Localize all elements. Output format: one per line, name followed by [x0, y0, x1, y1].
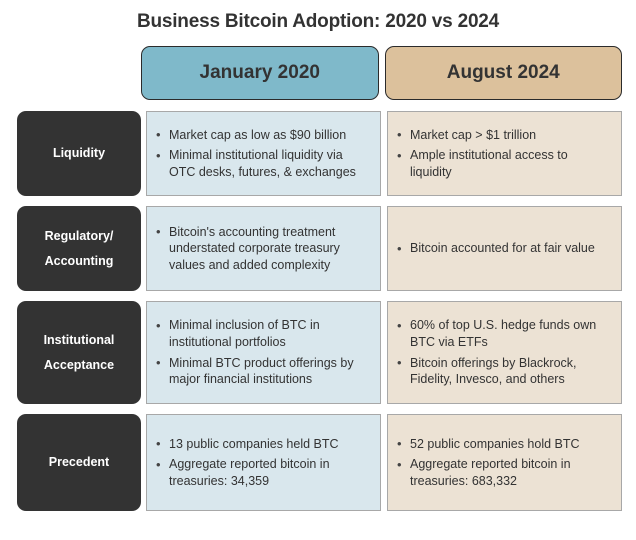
- bullet-list: Minimal inclusion of BTC in institutiona…: [155, 313, 370, 392]
- comparison-table: January 2020 August 2024 Liquidity Marke…: [0, 46, 636, 521]
- page-title: Business Bitcoin Adoption: 2020 vs 2024: [0, 0, 636, 34]
- list-item: 52 public companies hold BTC: [396, 436, 611, 453]
- list-item: Bitcoin's accounting treatment understat…: [155, 224, 370, 274]
- table-row: Regulatory/ Accounting Bitcoin's account…: [0, 206, 636, 291]
- column-header-label: January 2020: [200, 62, 320, 84]
- column-header-january-2020: January 2020: [141, 46, 379, 100]
- row-label-line2: Acceptance: [44, 353, 114, 378]
- list-item: Minimal inclusion of BTC in institutiona…: [155, 317, 370, 350]
- cell-regulatory-2024: Bitcoin accounted for at fair value: [387, 206, 622, 291]
- list-item: 13 public companies held BTC: [155, 436, 370, 453]
- list-item: Ample institutional access to liquidity: [396, 147, 611, 180]
- bullet-list: Market cap > $1 trillion Ample instituti…: [396, 123, 611, 185]
- cell-precedent-2020: 13 public companies held BTC Aggregate r…: [146, 414, 381, 511]
- table-header-row: January 2020 August 2024: [0, 46, 636, 100]
- cell-institutional-2020: Minimal inclusion of BTC in institutiona…: [146, 301, 381, 404]
- row-label-line1: Precedent: [49, 450, 109, 475]
- row-label-line2: Accounting: [45, 249, 114, 274]
- row-label-regulatory-accounting: Regulatory/ Accounting: [17, 206, 141, 291]
- cell-liquidity-2024: Market cap > $1 trillion Ample instituti…: [387, 111, 622, 196]
- header-column-gap: [379, 46, 385, 100]
- column-header-august-2024: August 2024: [385, 46, 623, 100]
- table-row: Precedent 13 public companies held BTC A…: [0, 414, 636, 511]
- list-item: Market cap as low as $90 billion: [155, 127, 370, 144]
- bullet-list: Market cap as low as $90 billion Minimal…: [155, 123, 370, 185]
- row-label-liquidity: Liquidity: [17, 111, 141, 196]
- list-item: Market cap > $1 trillion: [396, 127, 611, 144]
- list-item: Minimal BTC product offerings by major f…: [155, 355, 370, 388]
- bullet-list: 52 public companies hold BTC Aggregate r…: [396, 432, 611, 494]
- list-item: Aggregate reported bitcoin in treasuries…: [155, 456, 370, 489]
- list-item: Bitcoin offerings by Blackrock, Fidelity…: [396, 355, 611, 388]
- table-row: Liquidity Market cap as low as $90 billi…: [0, 111, 636, 196]
- row-label-line1: Institutional: [44, 328, 115, 353]
- row-label-institutional-acceptance: Institutional Acceptance: [17, 301, 141, 404]
- list-item: Minimal institutional liquidity via OTC …: [155, 147, 370, 180]
- table-row: Institutional Acceptance Minimal inclusi…: [0, 301, 636, 404]
- bullet-list: Bitcoin accounted for at fair value: [396, 236, 611, 261]
- header-corner-spacer: [17, 46, 141, 100]
- row-label-line1: Regulatory/: [45, 224, 114, 249]
- cell-regulatory-2020: Bitcoin's accounting treatment understat…: [146, 206, 381, 291]
- column-header-label: August 2024: [447, 62, 560, 84]
- cell-institutional-2024: 60% of top U.S. hedge funds own BTC via …: [387, 301, 622, 404]
- row-label-line1: Liquidity: [53, 141, 105, 166]
- list-item: Aggregate reported bitcoin in treasuries…: [396, 456, 611, 489]
- cell-precedent-2024: 52 public companies hold BTC Aggregate r…: [387, 414, 622, 511]
- bullet-list: Bitcoin's accounting treatment understat…: [155, 220, 370, 278]
- comparison-table-page: Business Bitcoin Adoption: 2020 vs 2024 …: [0, 0, 636, 540]
- list-item: Bitcoin accounted for at fair value: [396, 240, 611, 257]
- list-item: 60% of top U.S. hedge funds own BTC via …: [396, 317, 611, 350]
- bullet-list: 13 public companies held BTC Aggregate r…: [155, 432, 370, 494]
- cell-liquidity-2020: Market cap as low as $90 billion Minimal…: [146, 111, 381, 196]
- bullet-list: 60% of top U.S. hedge funds own BTC via …: [396, 313, 611, 392]
- row-label-precedent: Precedent: [17, 414, 141, 511]
